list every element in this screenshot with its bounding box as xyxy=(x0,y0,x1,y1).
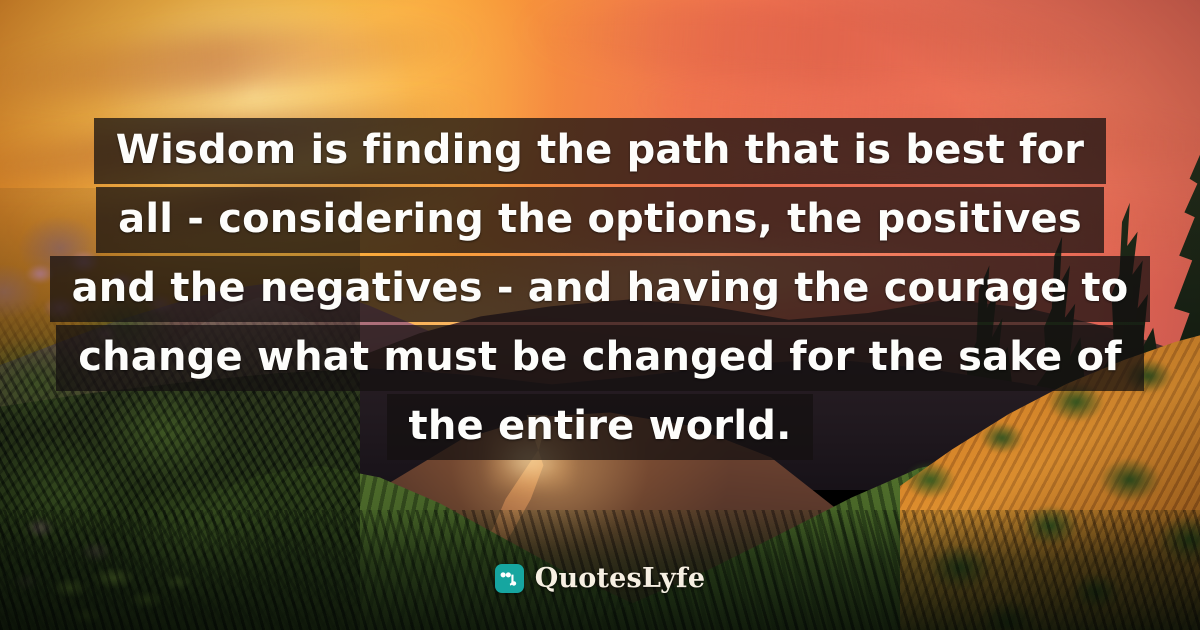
quote-card: Wisdom is finding the path that is best … xyxy=(0,0,1200,630)
brand-watermark: QuotesLyfe xyxy=(0,563,1200,594)
quote-line: and the negatives - and having the coura… xyxy=(50,256,1151,322)
quote-line: all - considering the options, the posit… xyxy=(96,187,1104,253)
quote-text: Wisdom is finding the path that is best … xyxy=(0,118,1200,460)
quote-line: Wisdom is finding the path that is best … xyxy=(94,118,1106,184)
brand-name: QuotesLyfe xyxy=(535,563,706,594)
quote-line: change what must be changed for the sake… xyxy=(56,325,1144,391)
quote-line: the entire world. xyxy=(387,394,814,460)
quote-mark-icon xyxy=(495,564,524,593)
